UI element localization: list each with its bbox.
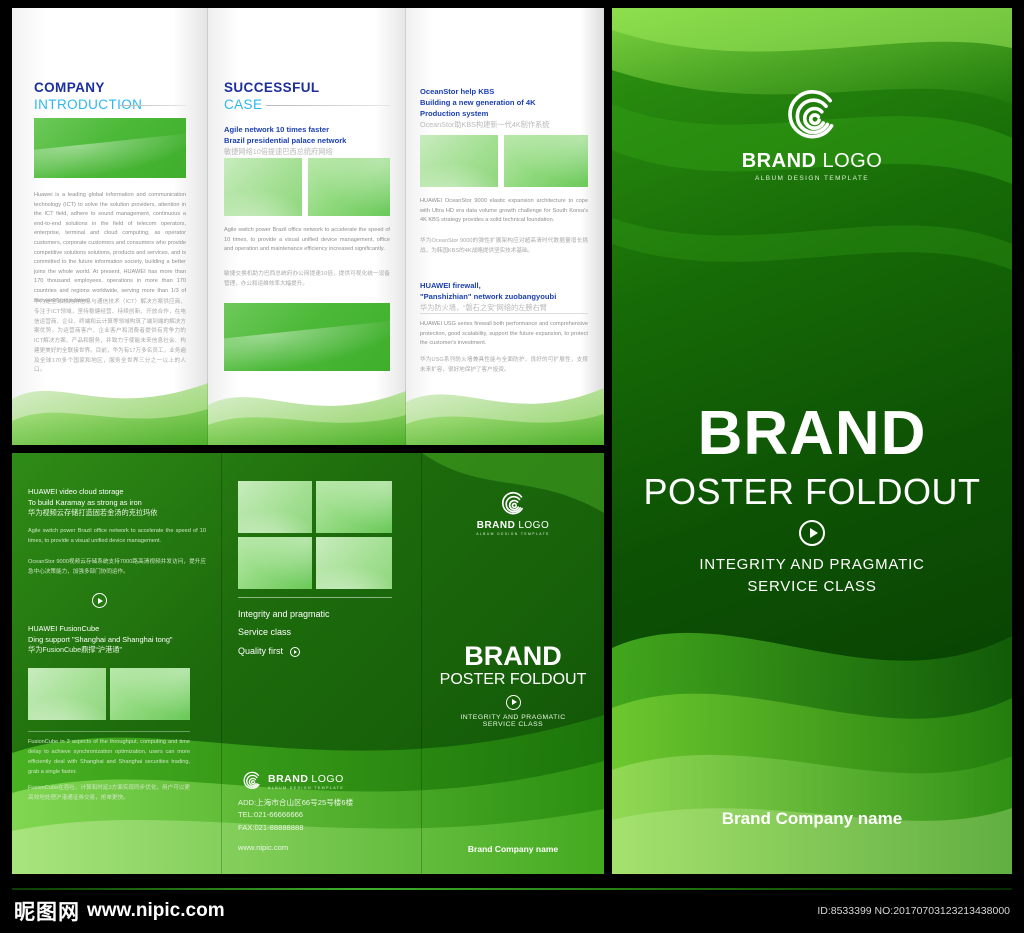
case-title-cn: 敏捷网络10倍提速巴西总统府网络 xyxy=(224,147,390,157)
fold-successful-case: SUCCESSFUL CASE Agile network 10 times f… xyxy=(208,8,406,445)
oceanstor-image-right xyxy=(504,135,588,187)
company-heading-sub: INTRODUCTION xyxy=(34,97,186,112)
video-cloud-title-cn: 华为视频云存储打造固若金汤的克拉玛依 xyxy=(28,508,206,519)
case-body-cn: 敏捷交换机助力巴西总统府办公网提速10倍，提供可视化统一设备管理，办公和运维效率… xyxy=(224,270,390,290)
video-cloud-title-line2: To build Karamay as strong as iron xyxy=(28,497,206,508)
cover-subtitle-1: INTEGRITY AND PRAGMATIC xyxy=(612,554,1012,576)
site-footer: 昵图网 www.nipic.com ID:8533399 NO:20170703… xyxy=(0,888,1024,933)
logo-name-thin: LOGO xyxy=(311,773,343,785)
company-body-en: Huawei is a leading global information a… xyxy=(34,191,186,306)
case-body-en: Agile switch power Brazil office network… xyxy=(224,226,390,255)
video-cloud-body-cn: OceanStor 9000视频云存储系统支持7000路高清视频并发访问，提升应… xyxy=(28,558,206,578)
fusioncube-image-left xyxy=(28,668,106,720)
swirl-globe-logo-icon xyxy=(242,771,262,791)
watermark-logo-cn: 昵图网 xyxy=(14,896,80,926)
fusioncube-image-right xyxy=(110,668,190,720)
heading-rule xyxy=(266,105,390,106)
fold-oceanstor-firewall: OceanStor help KBS Building a new genera… xyxy=(406,8,604,445)
contact-website[interactable]: www.nipic.com xyxy=(238,842,418,854)
logo-name-thin: LOGO xyxy=(518,520,549,531)
back-cover-logo: BRANDLOGO ALBUM DESIGN TEMPLATE xyxy=(242,771,344,791)
service-line-1: Integrity and pragmatic xyxy=(238,605,408,623)
green-fold-front-cover: BRANDLOGO ALBUM DESIGN TEMPLATE BRAND PO… xyxy=(422,453,604,874)
cover-poster: BRANDLOGO ALBUM DESIGN TEMPLATE BRAND PO… xyxy=(612,8,1012,874)
green-fold-back-cover: Integrity and pragmatic Service class Qu… xyxy=(222,453,422,874)
cover-title-poster: POSTER FOLDOUT xyxy=(612,471,1012,512)
logo-name-thin: LOGO xyxy=(822,150,882,172)
firewall-title-line1: HUAWEI firewall, xyxy=(420,280,588,291)
cover-logo-text: BRANDLOGO ALBUM DESIGN TEMPLATE xyxy=(742,150,883,182)
front-cover-subtitle-2: SERVICE CLASS xyxy=(422,721,604,728)
front-cover-logo-text: BRANDLOGO ALBUM DESIGN TEMPLATE xyxy=(476,520,550,536)
watermark-url[interactable]: www.nipic.com xyxy=(87,900,225,922)
fusioncube-title-line2: Ding support "Shanghai and Shanghai tong… xyxy=(28,634,206,645)
image-id-text: ID:8533399 NO:20170703123213438000 xyxy=(817,905,1010,917)
fusioncube-rule xyxy=(28,731,190,732)
firewall-title-line2: "Panshizhian" network zuobangyoubi xyxy=(420,291,588,302)
fusioncube-body-cn: FusionCube在吞吐、计算和时延3方面实现同步优化，用户可以更高效地处理沪… xyxy=(28,784,190,804)
service-rule xyxy=(238,597,392,598)
back-cover-logo-text: BRANDLOGO ALBUM DESIGN TEMPLATE xyxy=(268,773,344,790)
firewall-body-en: HUAWEI USG series firewall both performa… xyxy=(420,320,588,349)
gallery-image-2 xyxy=(316,481,392,533)
cover-company-name: Brand Company name xyxy=(612,809,1012,829)
logo-tagline: ALBUM DESIGN TEMPLATE xyxy=(742,175,883,182)
contact-address: ADD:上海市合山区66号25号楼6楼 xyxy=(238,797,418,809)
front-cover-brand: BRAND xyxy=(422,643,604,670)
oceanstor-body-en: HUAWEI OceanStor 9000 elastic expansion … xyxy=(420,197,588,226)
contact-fax: FAX:021-88888888 xyxy=(238,822,418,834)
case-heading-sub-text: CASE xyxy=(224,97,262,112)
oceanstor-title-line3: Production system xyxy=(420,108,588,119)
case-title-en-line1: Agile network 10 times faster xyxy=(224,124,390,135)
play-icon[interactable] xyxy=(506,695,521,710)
service-line-2: Service class xyxy=(238,623,408,641)
firewall-title-cn: 华为防火墙，“磐石之安”网络的左膀右臂 xyxy=(420,303,588,313)
swirl-globe-logo-icon xyxy=(784,88,840,144)
logo-name-bold: BRAND xyxy=(268,773,308,785)
oceanstor-title-line2: Building a new generation of 4K xyxy=(420,97,588,108)
brochure-outside-spread: HUAWEI video cloud storage To build Kara… xyxy=(12,453,604,874)
front-cover-subtitle-1: INTEGRITY AND PRAGMATIC xyxy=(422,714,604,721)
company-body-cn: 华为是全球领先的信息与通信技术（ICT）解决方案供应商，专注于ICT领域，坚持稳… xyxy=(34,298,186,376)
service-line-3: Quality first xyxy=(238,642,408,660)
gallery-image-4 xyxy=(316,537,392,589)
case-image-right xyxy=(308,158,390,216)
logo-tagline: ALBUM DESIGN TEMPLATE xyxy=(476,532,550,536)
cover-logo: BRANDLOGO ALBUM DESIGN TEMPLATE xyxy=(612,88,1012,182)
front-cover-company-name: Brand Company name xyxy=(422,844,604,854)
video-cloud-title-line1: HUAWEI video cloud storage xyxy=(28,486,206,497)
play-icon[interactable] xyxy=(92,593,107,608)
cover-title-block: BRAND POSTER FOLDOUT INTEGRITY AND PRAGM… xyxy=(612,403,1012,598)
cover-title-brand: BRAND xyxy=(612,403,1012,465)
gallery-image-1 xyxy=(238,481,312,533)
gallery-image-3 xyxy=(238,537,312,589)
heading-rule xyxy=(120,105,186,106)
oceanstor-body-cn: 华为OceanStor 9000的弹性扩展架构应对超高清时代数据量增长挑战，为韩… xyxy=(420,237,588,257)
poster-canvas: COMPANY INTRODUCTION Huawei is a leading… xyxy=(0,0,1024,933)
case-image-wide xyxy=(224,303,390,371)
front-cover-title: BRAND POSTER FOLDOUT INTEGRITY AND PRAGM… xyxy=(422,643,604,728)
company-hero-image xyxy=(34,118,186,178)
video-cloud-body-en: Agile switch power Brazil office network… xyxy=(28,527,206,547)
oceanstor-title-cn: OceanStor助KBS构建新一代4K制作系统 xyxy=(420,120,588,130)
front-cover-poster: POSTER FOLDOUT xyxy=(422,670,604,691)
play-icon[interactable] xyxy=(799,520,825,546)
case-title-en-line2: Brazil presidential palace network xyxy=(224,135,390,146)
brochure-inside-spread: COMPANY INTRODUCTION Huawei is a leading… xyxy=(12,8,604,445)
logo-name-bold: BRAND xyxy=(477,520,516,531)
oceanstor-title-line1: OceanStor help KBS xyxy=(420,86,588,97)
swirl-globe-logo-icon xyxy=(500,491,526,517)
case-heading-main: SUCCESSFUL xyxy=(224,80,390,95)
case-heading-sub: CASE xyxy=(224,97,390,112)
oceanstor-image-left xyxy=(420,135,498,187)
green-fold-cases: HUAWEI video cloud storage To build Kara… xyxy=(12,453,222,874)
firewall-body-cn: 华为USG系列防火墙兼具性能与全面防护，良好的可扩展性，支撑未来扩容，很好地保护… xyxy=(420,356,588,376)
footer-rule xyxy=(12,888,1012,890)
fusioncube-title-cn: 华为FusionCube鼎撑“沪港通” xyxy=(28,645,206,656)
contact-tel: TEL:021-66666666 xyxy=(238,809,418,821)
fusioncube-title-line1: HUAWEI FusionCube xyxy=(28,623,206,634)
front-cover-logo: BRANDLOGO ALBUM DESIGN TEMPLATE xyxy=(422,491,604,536)
firewall-rule xyxy=(420,313,588,314)
fusioncube-body-en: FusionCube in 3 aspects of the throughpu… xyxy=(28,738,190,778)
play-icon[interactable] xyxy=(290,647,300,657)
case-image-left xyxy=(224,158,302,216)
service-line-3-text: Quality first xyxy=(238,646,283,656)
company-heading-main: COMPANY xyxy=(34,80,186,95)
cover-subtitle-2: SERVICE CLASS xyxy=(612,576,1012,598)
logo-name-bold: BRAND xyxy=(742,150,817,172)
fold-company-introduction: COMPANY INTRODUCTION Huawei is a leading… xyxy=(12,8,208,445)
logo-tagline: ALBUM DESIGN TEMPLATE xyxy=(268,786,344,790)
